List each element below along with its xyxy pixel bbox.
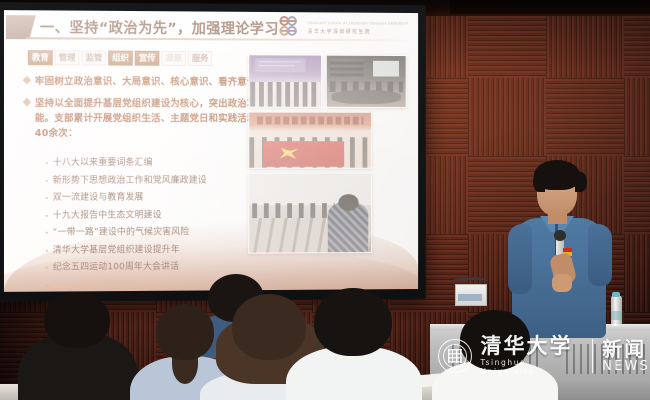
wall-slat-tile (546, 78, 624, 156)
watermark-divider (592, 339, 594, 373)
watermark-university-cn: 清华大学 (481, 336, 583, 357)
slide-tab-6: 服务 (188, 51, 212, 66)
dot-bullet-icon (46, 232, 48, 234)
sub-list-text: 纪念五四运动100周年大会讲话 (53, 260, 179, 275)
projection-screen-frame: 一、坚持“政治为先”，加强理论学习 GRADUATE SCHOOL AT SHE… (0, 2, 426, 302)
slide-tab-2: 监管 (82, 50, 107, 65)
dot-bullet-icon (46, 197, 48, 199)
projection-screen-surface: 一、坚持“政治为先”，加强理论学习 GRADUATE SCHOOL AT SHE… (4, 10, 418, 292)
diamond-bullet-icon (23, 98, 31, 106)
diamond-bullet-icon (23, 76, 31, 84)
sub-list-item: 十八大以来重要词条汇编 (46, 156, 252, 170)
watermark-channel-en: NEWS (602, 360, 650, 374)
dot-bullet-icon (46, 214, 48, 216)
sub-list-text: 十九大报告中生态文明建设 (53, 208, 162, 222)
audience-member-1 (18, 292, 138, 400)
slide-tab-1: 管理 (55, 50, 80, 65)
bullet-text: 牢固树立政治意识、大局意识、核心意识、看齐意识 (35, 74, 257, 90)
watermark: 清华大学 Tsinghua University 新闻 NEWS (438, 336, 650, 376)
institution-logo: GRADUATE SCHOOL AT SHENZHEN TSINGHUA UNI… (278, 15, 408, 41)
device-display (458, 294, 482, 301)
wall-slat-tile (624, 78, 650, 156)
sub-list-text: 双一流建设与教育发展 (53, 191, 144, 205)
watermark-university: 清华大学 Tsinghua University (481, 336, 583, 376)
watermark-university-en: Tsinghua University (481, 358, 583, 376)
sub-list-text: 十八大以来重要词条汇编 (53, 156, 153, 170)
wall-slat-tile (468, 78, 546, 156)
slide-tab-4: 宣传 (135, 51, 160, 66)
presentation-slide: 一、坚持“政治为先”，加强理论学习 GRADUATE SCHOOL AT SHE… (4, 10, 418, 292)
audience-member-5 (286, 288, 422, 400)
slide-photo-collage (248, 54, 410, 55)
dna-rings-icon (278, 15, 303, 41)
bullet-text: 坚持以全面提升基层党组织建设为核心，突出政治功能。支部累计开展党组织生活、主题党… (35, 96, 258, 141)
photo-party-flag (248, 112, 372, 169)
sub-list-text: 新形势下思想政治工作和党风廉政建设 (53, 173, 207, 187)
slide-tab-0: 教育 (28, 50, 53, 65)
sub-list-text: …… (53, 278, 71, 292)
watermark-channel-cn: 新闻 (602, 339, 650, 360)
slide-tab-5: 凝聚 (161, 51, 186, 66)
slide-title: 一、坚持“政治为先”，加强理论学习 (40, 16, 279, 38)
ceiling-strip (450, 0, 650, 14)
photo-group-banner (248, 54, 322, 107)
logo-chinese: 清华大学深圳研究生院 (308, 28, 409, 35)
sub-list-item: 清华大学基层党组织建设提升年 (46, 242, 252, 257)
slide-bullet-list: 牢固树立政治意识、大局意识、核心意识、看齐意识坚持以全面提升基层党组织建设为核心… (24, 74, 258, 148)
sub-list-text: 清华大学基层党组织建设提升年 (53, 243, 180, 258)
sub-list-item: 新形势下思想政治工作和党风廉政建设 (46, 173, 252, 187)
wall-slat-tile (624, 234, 650, 312)
lecture-hall-photo: 一、坚持“政治为先”，加强理论学习 GRADUATE SCHOOL AT SHE… (0, 0, 650, 400)
logo-text-block: GRADUATE SCHOOL AT SHENZHEN TSINGHUA UNI… (308, 21, 409, 35)
sub-list-item: 双一流建设与教育发展 (46, 190, 252, 204)
tsinghua-seal-icon (438, 339, 472, 373)
sub-list-item: 十九大报告中生态文明建设 (46, 208, 252, 223)
logo-english: GRADUATE SCHOOL AT SHENZHEN TSINGHUA UNI… (308, 21, 409, 26)
photo-meeting-room (326, 55, 407, 108)
sub-list-text: “一带一路”建设中的气候灾害风险 (53, 225, 190, 239)
bullet-row: 坚持以全面提升基层党组织建设为核心，突出政治功能。支部累计开展党组织生活、主题党… (24, 96, 258, 141)
photo-classroom (248, 173, 372, 254)
dot-bullet-icon (46, 162, 48, 164)
sub-list-item: 纪念五四运动100周年大会讲话 (46, 260, 252, 275)
dot-bullet-icon (46, 267, 48, 269)
bullet-row: 牢固树立政治意识、大局意识、核心意识、看齐意识 (24, 74, 258, 90)
slide-category-tabs: 教育管理监管组织宣传凝聚服务 (28, 50, 212, 66)
dot-bullet-icon (46, 284, 48, 286)
dot-bullet-icon (46, 249, 48, 251)
title-accent-shape (6, 15, 36, 39)
slide-sub-list: 十八大以来重要词条汇编新形势下思想政治工作和党风廉政建设双一流建设与教育发展十九… (46, 156, 252, 292)
sub-list-item: “一带一路”建设中的气候灾害风险 (46, 225, 252, 240)
microphone-head (554, 230, 566, 241)
slide-tab-3: 组织 (108, 51, 133, 66)
dot-bullet-icon (46, 179, 48, 181)
watermark-channel: 新闻 NEWS (602, 339, 650, 374)
wall-slat-tile (624, 156, 650, 234)
